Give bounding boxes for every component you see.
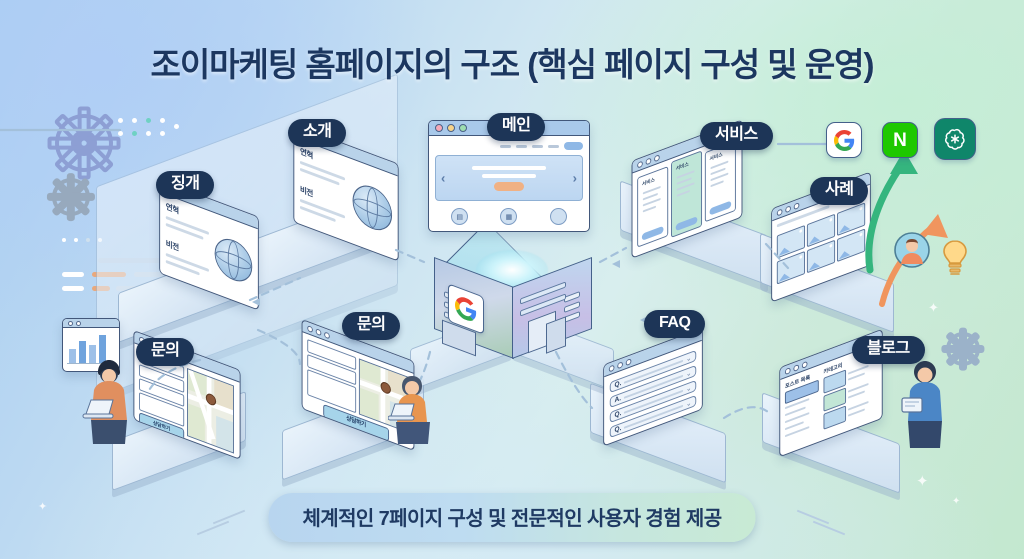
chevron-down-icon[interactable]: ⌄	[686, 383, 692, 393]
chevron-down-icon[interactable]: ⌄	[686, 368, 692, 378]
hero-slider: ‹ ›	[435, 155, 583, 201]
faq-row-prefix: Q.	[614, 425, 621, 435]
service-card-1-title: 서비스	[642, 176, 655, 188]
service-card-3[interactable]: 서비스	[705, 141, 736, 223]
openai-logo-icon	[943, 127, 967, 151]
avatar-glyph	[894, 232, 930, 268]
bar-1	[69, 349, 76, 363]
faq-row-prefix: A.	[614, 395, 621, 404]
feature-icon-2: ▦	[500, 208, 517, 225]
person-left-with-laptop	[78, 356, 134, 451]
bottom-banner: 체계적인 7페이지 구성 및 전문적인 사용자 경험 제공	[268, 493, 755, 542]
label-contact-left: 문의	[136, 338, 194, 366]
feature-icons: ▤ ▦	[435, 208, 583, 225]
banner-slash-right-2	[813, 521, 845, 536]
nav-cta-button[interactable]	[564, 142, 583, 150]
person-glyph	[898, 358, 952, 450]
person-glyph	[388, 372, 440, 446]
chevron-down-icon[interactable]: ⌄	[686, 353, 692, 363]
label-main: 메인	[487, 113, 545, 141]
label-blog: 블로그	[852, 336, 925, 364]
feature-icon-3	[550, 208, 567, 225]
avatar-badge-right	[894, 232, 930, 273]
label-intro: 소개	[288, 119, 346, 147]
lightbulb-glyph	[938, 238, 972, 278]
chevron-down-icon[interactable]: ⌄	[686, 398, 692, 408]
naver-logo-chip[interactable]: N	[882, 122, 918, 158]
screen-body: ‹ › ▤ ▦	[429, 136, 589, 232]
faq-row-prefix: Q.	[614, 380, 621, 390]
central-hub	[424, 228, 600, 356]
page-title: 조이마케팅 홈페이지의 구조 (핵심 페이지 구성 및 운영)	[0, 38, 1024, 86]
lightbulb-icon	[938, 238, 972, 283]
sparkle-icon-4: ✦	[38, 500, 47, 513]
nav-bar	[435, 142, 583, 150]
person-glyph	[78, 356, 134, 446]
titlebar	[63, 319, 119, 328]
person-right-with-tablet	[898, 358, 952, 455]
hero-cta-button[interactable]	[494, 182, 524, 191]
sparkle-icon-3: ✦	[952, 496, 960, 507]
dot-grid-decoration	[118, 118, 198, 142]
slider-prev-icon[interactable]: ‹	[441, 171, 445, 186]
sparkle-icon-2: ✦	[916, 472, 929, 490]
label-intro-small: 징개	[156, 171, 214, 199]
service-card-1[interactable]: 서비스	[637, 166, 668, 248]
gear-icon-small	[52, 178, 90, 216]
infographic-canvas: ✦ ✦ ✦ ✦ 조이마케팅 홈페이지의 구조 (핵심 페이지 구성 및 운영)	[0, 0, 1024, 559]
gear-icon-large	[55, 114, 113, 172]
label-case: 사례	[810, 177, 868, 205]
map-left[interactable]	[187, 368, 234, 454]
label-contact-mid: 문의	[342, 312, 400, 340]
google-logo-icon	[455, 294, 477, 324]
service-card-2-title: 서비스	[676, 160, 689, 172]
hub-base-right-2	[546, 316, 566, 353]
feature-icon-1: ▤	[451, 208, 468, 225]
service-card-3-title: 서비스	[710, 151, 723, 163]
google-logo-chip[interactable]	[826, 122, 862, 158]
openai-logo-chip[interactable]	[934, 118, 976, 160]
label-faq: FAQ	[644, 310, 705, 338]
faq-row-prefix: Q.	[614, 410, 621, 420]
service-card-2[interactable]: 서비스	[671, 150, 702, 238]
label-service: 서비스	[700, 122, 773, 150]
google-logo-icon	[834, 130, 855, 151]
person-mid-with-laptop	[388, 372, 440, 451]
slider-next-icon[interactable]: ›	[573, 171, 577, 186]
hub-cube	[424, 228, 600, 356]
naver-logo-icon: N	[893, 131, 907, 150]
